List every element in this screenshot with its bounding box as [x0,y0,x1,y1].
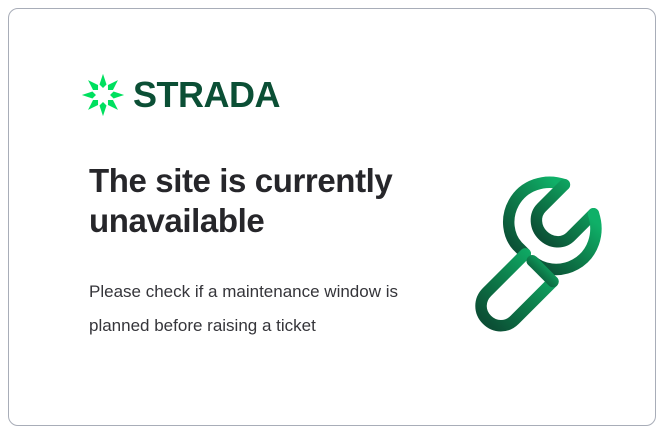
status-card: STRADA The site is currently unavailable… [8,8,656,426]
status-description: Please check if a maintenance window is … [89,275,409,344]
strada-asterisk-icon [81,73,125,117]
wrench-icon [461,157,637,333]
brand-wordmark: STRADA [133,77,280,113]
brand-logo: STRADA [81,73,280,117]
page-title: The site is currently unavailable [89,161,419,240]
